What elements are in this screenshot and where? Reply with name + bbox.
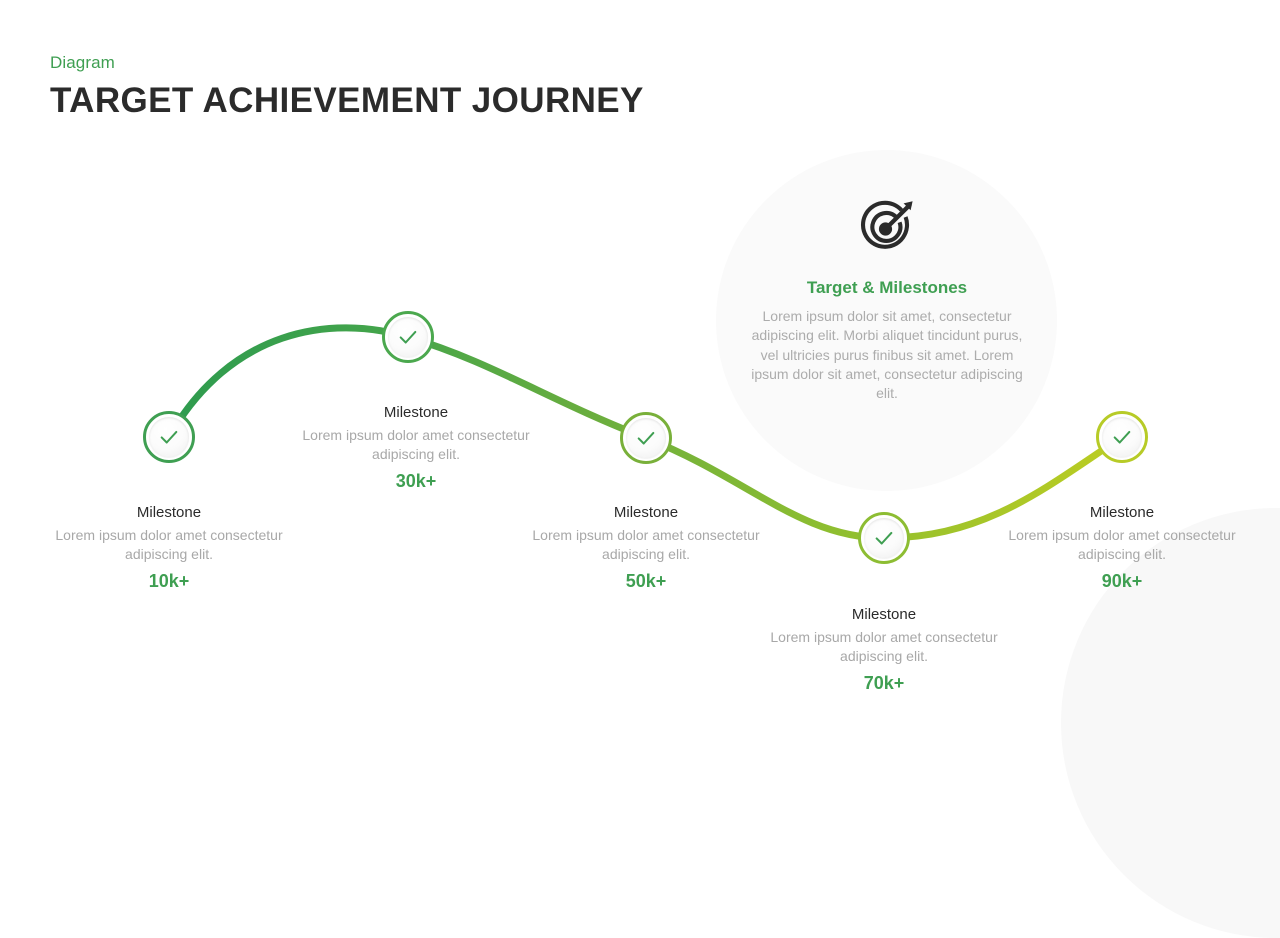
milestone-value: 10k+	[49, 570, 289, 592]
milestone-node-3[interactable]	[620, 412, 672, 464]
check-icon	[388, 317, 428, 357]
target-panel-heading: Target & Milestones	[746, 277, 1028, 299]
check-icon	[626, 418, 666, 458]
check-icon	[149, 417, 189, 457]
milestone-caption-5: Milestone Lorem ipsum dolor amet consect…	[1002, 503, 1242, 592]
milestone-title: Milestone	[1002, 503, 1242, 523]
milestone-caption-1: Milestone Lorem ipsum dolor amet consect…	[49, 503, 289, 592]
milestone-description: Lorem ipsum dolor amet consectetur adipi…	[49, 526, 289, 564]
milestone-caption-4: Milestone Lorem ipsum dolor amet consect…	[764, 605, 1004, 694]
milestone-title: Milestone	[49, 503, 289, 523]
milestone-title: Milestone	[764, 605, 1004, 625]
eyebrow-label: Diagram	[50, 52, 950, 74]
target-milestones-panel: Target & Milestones Lorem ipsum dolor si…	[746, 196, 1028, 403]
header: Diagram TARGET ACHIEVEMENT JOURNEY	[50, 52, 950, 122]
check-icon	[864, 518, 904, 558]
milestone-node-2[interactable]	[382, 311, 434, 363]
milestone-description: Lorem ipsum dolor amet consectetur adipi…	[296, 426, 536, 464]
milestone-value: 70k+	[764, 672, 1004, 694]
milestone-description: Lorem ipsum dolor amet consectetur adipi…	[764, 628, 1004, 666]
milestone-node-5[interactable]	[1096, 411, 1148, 463]
target-panel-description: Lorem ipsum dolor sit amet, consectetur …	[746, 307, 1028, 403]
check-icon	[1102, 417, 1142, 457]
target-bullseye-arrow-icon	[856, 196, 918, 256]
milestone-value: 90k+	[1002, 570, 1242, 592]
milestone-value: 30k+	[296, 470, 536, 492]
milestone-title: Milestone	[526, 503, 766, 523]
milestone-value: 50k+	[526, 570, 766, 592]
milestone-node-1[interactable]	[143, 411, 195, 463]
page-title: TARGET ACHIEVEMENT JOURNEY	[50, 80, 950, 122]
milestone-caption-2: Milestone Lorem ipsum dolor amet consect…	[296, 403, 536, 492]
milestone-node-4[interactable]	[858, 512, 910, 564]
milestone-caption-3: Milestone Lorem ipsum dolor amet consect…	[526, 503, 766, 592]
milestone-description: Lorem ipsum dolor amet consectetur adipi…	[526, 526, 766, 564]
milestone-description: Lorem ipsum dolor amet consectetur adipi…	[1002, 526, 1242, 564]
milestone-title: Milestone	[296, 403, 536, 423]
